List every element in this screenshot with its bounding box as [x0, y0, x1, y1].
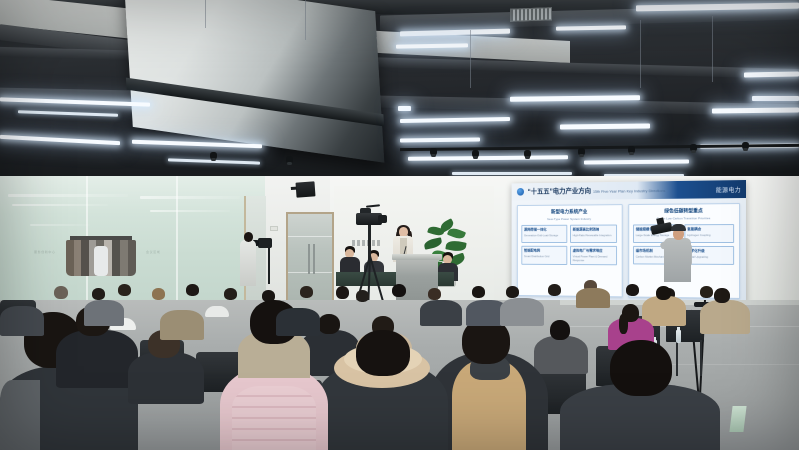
glass-decal-left: 服务创新中心	[34, 250, 56, 254]
audience-shoulders	[534, 336, 588, 374]
audience-shoulders	[420, 300, 462, 326]
glass-reflection	[8, 194, 128, 197]
ceiling-wire	[470, 30, 471, 88]
slide-bullet-box: 新能源高比例消纳 High-Ratio Renewable Integratio…	[570, 225, 617, 243]
slide-title: “十五五”电力产业方向15th Five-Year Plan Key Indus…	[528, 185, 666, 196]
audience-head	[550, 320, 570, 340]
audience-shoulders	[128, 352, 204, 404]
track-spotlight-icon	[524, 150, 531, 158]
led-strip	[556, 25, 626, 30]
audience-ponytail	[619, 314, 628, 334]
audience-head	[356, 290, 369, 302]
lighting-track	[400, 144, 799, 151]
ceiling-wire	[640, 20, 641, 88]
ceiling-wire	[712, 16, 713, 82]
slide-title-en: 15th Five-Year Plan Key Industry Directi…	[593, 188, 665, 194]
audience-shoulders	[0, 306, 44, 336]
audience-head	[392, 284, 406, 297]
audience-head	[336, 286, 349, 299]
suspended-ceiling-panel	[124, 0, 385, 163]
audience-head	[610, 340, 672, 396]
slide-card: 新型电力系统产业 New-Type Power System Industry …	[517, 204, 623, 297]
white-coat	[94, 246, 108, 276]
led-strip	[752, 96, 799, 101]
audience-grey-shoulder	[0, 380, 40, 450]
glass-mullion	[176, 176, 178, 304]
audience-head	[714, 288, 730, 303]
track-spotlight-icon	[628, 146, 635, 154]
audience-shoulders	[160, 310, 204, 340]
track-spotlight-icon	[472, 150, 479, 158]
audience-head	[118, 284, 131, 296]
stage-wall-logo	[352, 240, 380, 246]
wall-speaker-icon	[295, 181, 315, 197]
led-strip	[584, 160, 689, 165]
audience-head	[224, 288, 237, 300]
track-spotlight-icon	[286, 156, 293, 164]
audience-shoulders	[576, 288, 610, 308]
audience-shoulders	[84, 300, 124, 326]
led-strip	[560, 124, 650, 130]
audience-white-cap	[205, 306, 229, 317]
ceiling-air-vent	[510, 7, 552, 21]
slide-title-cn: “十五五”电力产业方向	[528, 188, 591, 195]
led-strip	[744, 72, 799, 78]
audience-head	[700, 286, 713, 298]
track-spotlight-icon	[578, 148, 585, 156]
audience-head	[656, 286, 671, 300]
second-operator-body	[240, 240, 256, 286]
tripod-column	[368, 225, 371, 259]
led-strip	[452, 172, 572, 175]
glass-reflection	[12, 204, 108, 206]
audience-head	[54, 286, 68, 299]
panel-suspension-wire	[305, 0, 306, 40]
track-spotlight-icon	[210, 152, 217, 160]
audience-head	[428, 288, 441, 300]
slide-card-heading: 绿色低碳转型重点 Green Low-Carbon Transition Pri…	[633, 208, 735, 220]
audience-head	[152, 288, 165, 300]
glass-reflection	[30, 224, 90, 226]
glass-decal-right: 会议区域	[146, 250, 160, 254]
audience-pink-puffer-quilting	[232, 386, 316, 450]
camera-lens-icon	[378, 215, 387, 223]
slide-brand-mark: 能源电力	[716, 185, 741, 194]
glass-reflection	[140, 196, 240, 199]
water-bottle	[676, 330, 681, 343]
led-strip	[0, 135, 120, 145]
glass-reflection	[150, 210, 230, 212]
ceiling	[0, 0, 799, 185]
second-tripod	[268, 244, 270, 284]
led-strip	[18, 110, 118, 116]
audience-shoulders	[700, 300, 750, 334]
led-strip	[398, 106, 411, 111]
wall-sign	[270, 226, 278, 231]
audience-head	[506, 286, 519, 298]
audience-head	[548, 284, 561, 296]
audience-head	[92, 288, 105, 300]
audience-head	[356, 330, 410, 376]
slide-bullet-box: 虚拟电厂与需求响应 Virtual Power Plant & Demand R…	[570, 246, 617, 266]
audience-head	[186, 284, 199, 296]
cameraman-body	[664, 238, 691, 282]
door-handle-icon[interactable]	[308, 244, 310, 274]
audience-head	[626, 284, 639, 296]
slide-bullet-box: 氢能耦合 Hydrogen Coupling	[684, 224, 734, 243]
panel-suspension-wire	[205, 0, 206, 28]
audience-shoulders	[276, 308, 320, 336]
led-strip	[400, 117, 510, 123]
track-spotlight-icon	[430, 148, 437, 156]
track-spotlight-icon	[742, 142, 749, 150]
slide-card-heading: 新型电力系统产业 New-Type Power System Industry	[521, 209, 618, 221]
cameraman-cap	[671, 224, 686, 231]
audience-shoulders	[56, 330, 138, 388]
audience-head	[472, 286, 485, 298]
slide-bullet-box: 源网荷储一体化 Generation-Grid-Load-Storage	[521, 225, 567, 243]
audience-head	[300, 286, 313, 298]
track-spotlight-icon	[690, 144, 697, 152]
audience-shoulders	[500, 298, 544, 326]
second-operator-head	[244, 232, 253, 242]
slide-bullet-box: 智能配电网 Smart Distribution Grid	[521, 246, 567, 266]
led-strip	[400, 138, 480, 143]
door-handle-icon[interactable]	[313, 244, 315, 274]
audience-head	[318, 314, 340, 334]
conference-hall-photo: 服务创新中心 会议区域 “十五五”电力产业方向15th Five-Year Pl…	[0, 0, 799, 450]
led-strip	[712, 107, 799, 113]
slide-logo-icon	[517, 188, 524, 196]
